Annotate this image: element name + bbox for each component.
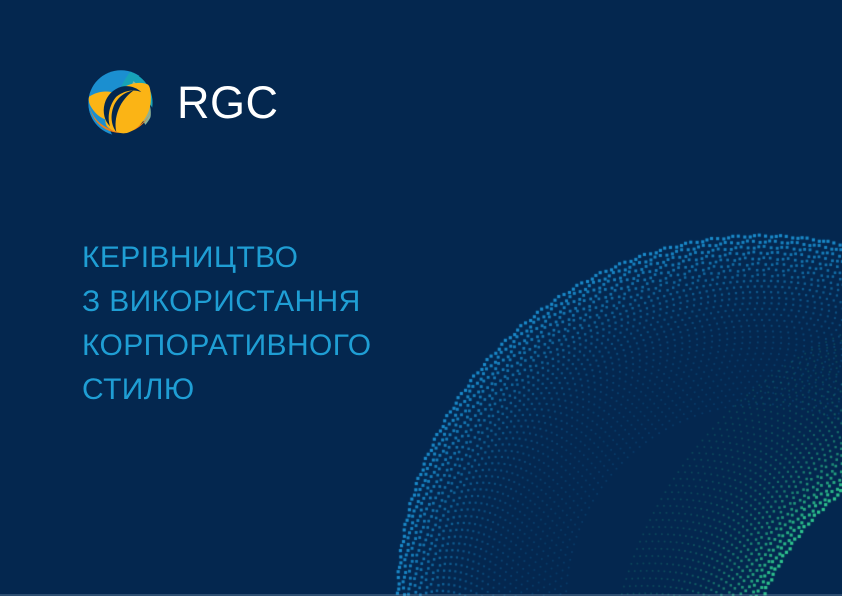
title-line-2: З ВИКОРИСТАННЯ (82, 280, 502, 324)
page-title: КЕРІВНИЦТВО З ВИКОРИСТАННЯ КОРПОРАТИВНОГ… (82, 236, 502, 412)
cover-page: RGC КЕРІВНИЦТВО З ВИКОРИСТАННЯ КОРПОРАТИ… (0, 0, 842, 596)
title-line-4: СТИЛЮ (82, 368, 502, 412)
logo-lockup: RGC (82, 64, 279, 142)
rgc-wordmark: RGC (177, 80, 279, 125)
rgc-circular-logo-mark (82, 64, 160, 142)
title-line-1: КЕРІВНИЦТВО (82, 236, 502, 280)
title-line-3: КОРПОРАТИВНОГО (82, 324, 502, 368)
